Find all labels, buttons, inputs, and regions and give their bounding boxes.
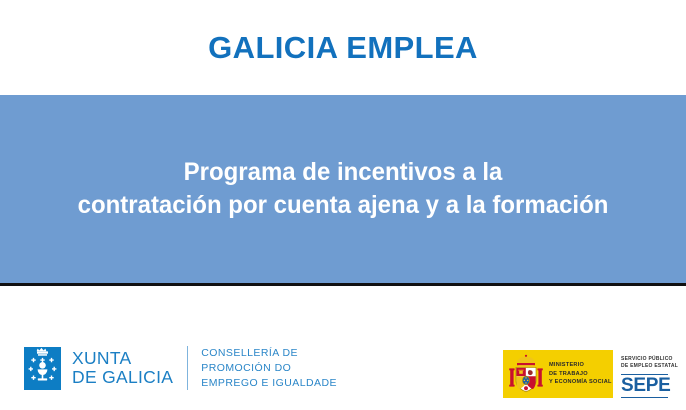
conselleria-wordmark: CONSELLERÍA DE PROMOCIÓN DO EMPREGO E IG…	[201, 346, 337, 391]
banner-line-1: Programa de incentivos a la	[26, 156, 660, 189]
footer-logo-strip: XUNTA DE GALICIA CONSELLERÍA DE PROMOCIÓ…	[0, 286, 686, 410]
ministerio-line-3: Y ECONOMÍA SOCIAL	[549, 378, 612, 386]
header-zone: GALICIA EMPLEA	[0, 0, 686, 95]
xunta-wordmark-line-2: DE GALICIA	[72, 368, 173, 388]
xunta-wordmark-line-1: XUNTA	[72, 349, 173, 369]
ministerio-wordmark: MINISTERIO DE TRABAJO Y ECONOMÍA SOCIAL	[549, 361, 612, 386]
conselleria-line-2: PROMOCIÓN DO	[201, 361, 337, 376]
page-title: GALICIA EMPLEA	[208, 32, 478, 63]
xunta-wordmark: XUNTA DE GALICIA	[72, 349, 173, 388]
xunta-de-galicia-logo: XUNTA DE GALICIA CONSELLERÍA DE PROMOCIÓ…	[24, 346, 337, 391]
spain-coat-of-arms-icon	[508, 354, 544, 394]
galicia-chalice-crest-icon	[24, 347, 61, 390]
sepe-wordmark: SEPE	[621, 376, 686, 395]
banner-line-2: contratación por cuenta ajena y a la for…	[26, 189, 660, 222]
conselleria-line-1: CONSELLERÍA DE	[201, 346, 337, 361]
sepe-bottom-rule	[621, 397, 668, 398]
sepe-subtitle-line-2: DE EMPLEO ESTATAL	[621, 363, 686, 370]
conselleria-line-3: EMPREGO E IGUALDADE	[201, 376, 337, 391]
xunta-emblem-icon	[24, 347, 61, 390]
logo-divider	[187, 346, 188, 390]
banner-text: Programa de incentivos a la contratación…	[26, 156, 660, 223]
ministerio-de-trabajo-logo: MINISTERIO DE TRABAJO Y ECONOMÍA SOCIAL	[503, 350, 613, 398]
sepe-logo: SERVICIO PÚBLICO DE EMPLEO ESTATAL SEPE	[613, 350, 686, 398]
ministerio-line-2: DE TRABAJO	[549, 370, 612, 378]
sepe-subtitle-line-1: SERVICIO PÚBLICO	[621, 356, 686, 363]
program-banner: Programa de incentivos a la contratación…	[0, 95, 686, 283]
sepe-subtitle: SERVICIO PÚBLICO DE EMPLEO ESTATAL	[621, 356, 686, 371]
ministerio-line-1: MINISTERIO	[549, 361, 612, 369]
